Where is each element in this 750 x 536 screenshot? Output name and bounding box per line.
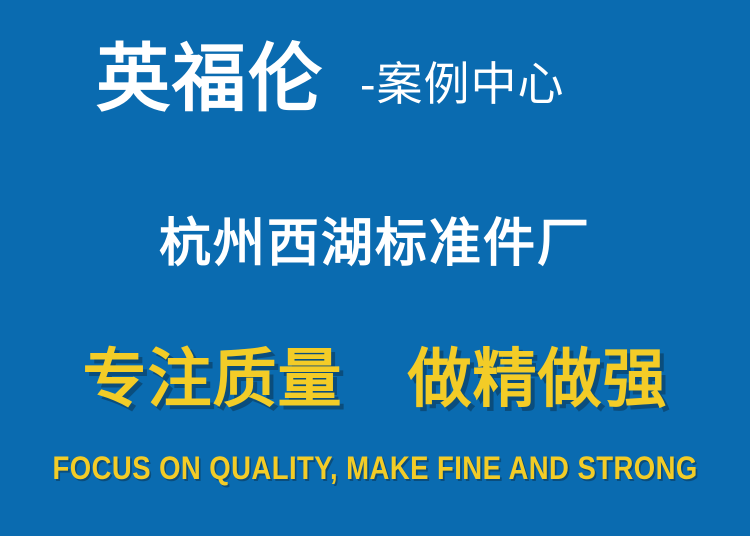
promo-banner: 英福伦 -案例中心 杭州西湖标准件厂 专注质量 做精做强 FOCUS ON QU… <box>0 0 750 536</box>
company-name-row: 杭州西湖标准件厂 <box>0 218 750 270</box>
slogan-row: 专注质量 做精做强 <box>0 348 750 412</box>
brand-name: 英福伦 <box>96 42 324 116</box>
company-name: 杭州西湖标准件厂 <box>159 218 591 270</box>
slogan-english: FOCUS ON QUALITY, MAKE FINE AND STRONG <box>53 452 698 484</box>
slogan-chinese: 专注质量 做精做强 <box>83 348 668 412</box>
section-label: -案例中心 <box>360 61 565 107</box>
tagline-row: FOCUS ON QUALITY, MAKE FINE AND STRONG <box>0 452 750 484</box>
brand-header: 英福伦 -案例中心 <box>0 42 750 146</box>
